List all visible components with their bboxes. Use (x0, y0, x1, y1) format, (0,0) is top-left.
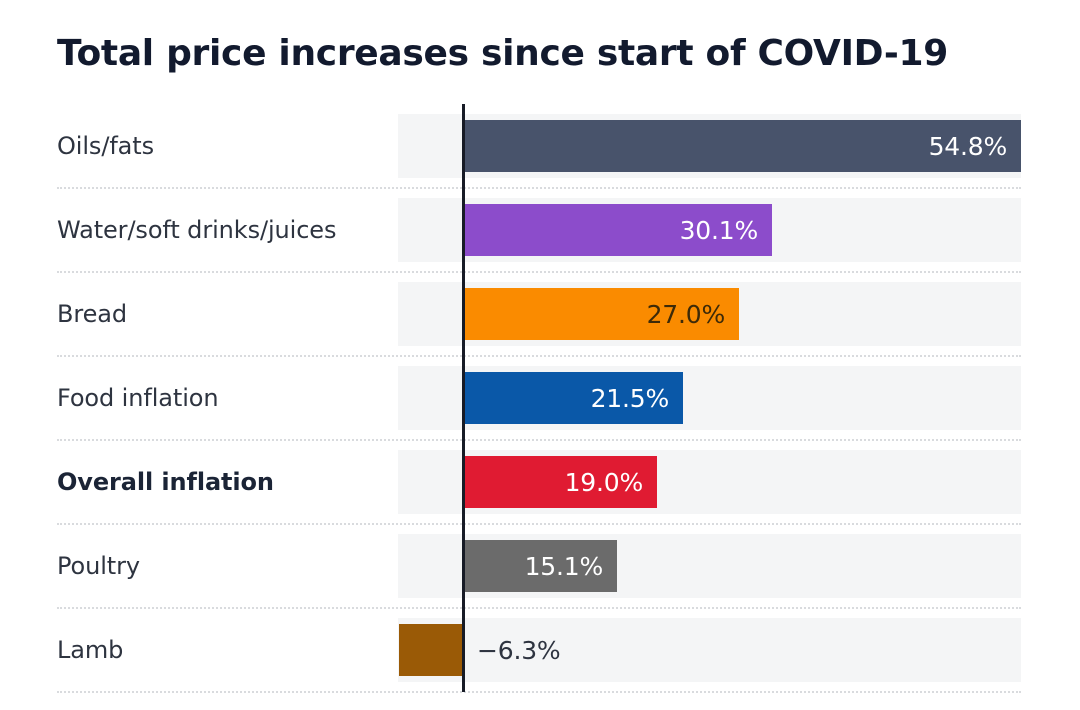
bar-lamb[interactable]: −6.3% (399, 624, 463, 676)
category-label-poultry: Poultry (57, 524, 392, 608)
bar-food-inflation[interactable]: 21.5% (463, 372, 683, 424)
bar-overall-inflation[interactable]: 19.0% (463, 456, 657, 508)
plot-area: Oils/fats 54.8% Water/soft drinks/juices… (0, 104, 1080, 692)
category-label-oils-fats: Oils/fats (57, 104, 392, 188)
zero-baseline (462, 104, 465, 692)
chart-row: Overall inflation 19.0% (0, 440, 1080, 524)
chart-row: Food inflation 21.5% (0, 356, 1080, 440)
bar-chart-figure: Total price increases since start of COV… (0, 0, 1080, 710)
bar-oils-fats[interactable]: 54.8% (463, 120, 1021, 172)
bar-value-water-soft-drinks-juices: 30.1% (666, 216, 772, 245)
category-label-water-soft-drinks-juices: Water/soft drinks/juices (57, 188, 392, 272)
bar-poultry[interactable]: 15.1% (463, 540, 617, 592)
chart-row: Lamb −6.3% (0, 608, 1080, 692)
category-label-lamb: Lamb (57, 608, 392, 692)
category-label-bread: Bread (57, 272, 392, 356)
bar-value-bread: 27.0% (633, 300, 739, 329)
chart-row: Water/soft drinks/juices 30.1% (0, 188, 1080, 272)
bar-value-food-inflation: 21.5% (577, 384, 683, 413)
chart-row: Poultry 15.1% (0, 524, 1080, 608)
category-label-overall-inflation: Overall inflation (57, 440, 392, 524)
bar-value-overall-inflation: 19.0% (551, 468, 657, 497)
page-title: Total price increases since start of COV… (57, 34, 1017, 74)
bar-value-oils-fats: 54.8% (915, 132, 1021, 161)
chart-row: Bread 27.0% (0, 272, 1080, 356)
bar-value-lamb: −6.3% (463, 636, 574, 665)
category-label-food-inflation: Food inflation (57, 356, 392, 440)
chart-row: Oils/fats 54.8% (0, 104, 1080, 188)
row-separator (57, 691, 1021, 694)
bar-water-soft-drinks-juices[interactable]: 30.1% (463, 204, 772, 256)
bar-value-poultry: 15.1% (511, 552, 617, 581)
bar-bread[interactable]: 27.0% (463, 288, 739, 340)
